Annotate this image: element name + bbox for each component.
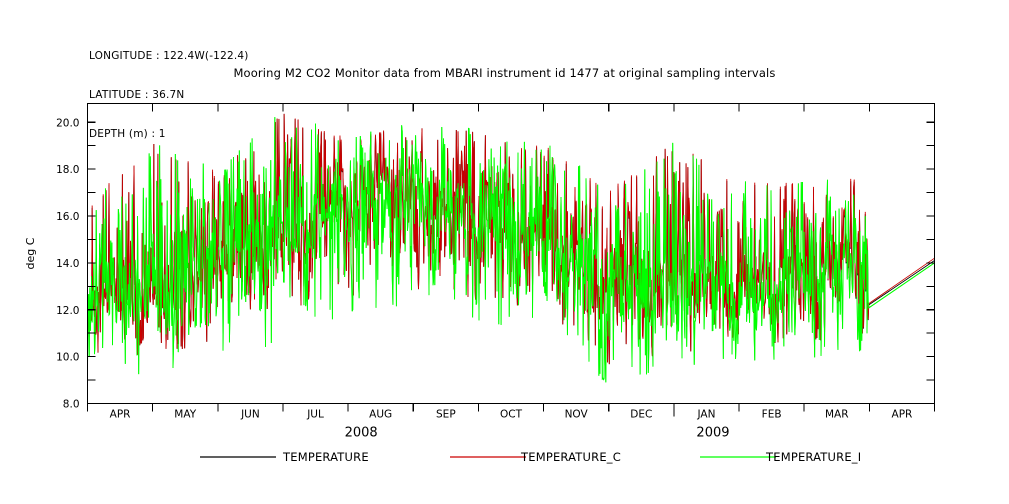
y-tick-label: 18.0 [56, 164, 79, 176]
series-layer [88, 114, 935, 382]
y-tick-label: 8.0 [63, 399, 80, 411]
x-tick-label-dec: DEC [630, 409, 652, 421]
legend-label-temperature: TEMPERATURE [282, 450, 369, 464]
x-tick-label-may: MAY [174, 409, 196, 421]
y-tick-label: 20.0 [56, 117, 79, 129]
legend-label-temperature-c: TEMPERATURE_C [520, 450, 621, 464]
x-tick-label-apr: APR [110, 409, 131, 421]
chart-plot-area: 8.010.012.014.016.018.020.0APRMAYJUNJULA… [0, 0, 1009, 504]
year-label-2009: 2009 [696, 426, 729, 441]
y-tick-label: 10.0 [56, 352, 79, 364]
x-tick-label-mar: MAR [825, 409, 849, 421]
x-tick-label-jan: JAN [696, 409, 715, 421]
x-tick-label-apr: APR [892, 409, 913, 421]
x-tick-label-aug: AUG [369, 409, 392, 421]
x-tick-label-jul: JUL [306, 409, 324, 421]
y-axis-title: deg C [24, 237, 37, 269]
year-label-2008: 2008 [345, 426, 378, 441]
chart-legend: TEMPERATURETEMPERATURE_CTEMPERATURE_I [200, 450, 861, 464]
x-tick-label-oct: OCT [500, 409, 523, 421]
y-tick-label: 14.0 [56, 258, 79, 270]
x-tick-label-jun: JUN [240, 409, 260, 421]
x-tick-label-nov: NOV [565, 409, 589, 421]
y-tick-label: 12.0 [56, 305, 79, 317]
x-tick-label-feb: FEB [762, 409, 782, 421]
x-tick-label-sep: SEP [436, 409, 456, 421]
legend-label-temperature-i: TEMPERATURE_I [765, 450, 861, 464]
y-tick-label: 16.0 [56, 211, 79, 223]
